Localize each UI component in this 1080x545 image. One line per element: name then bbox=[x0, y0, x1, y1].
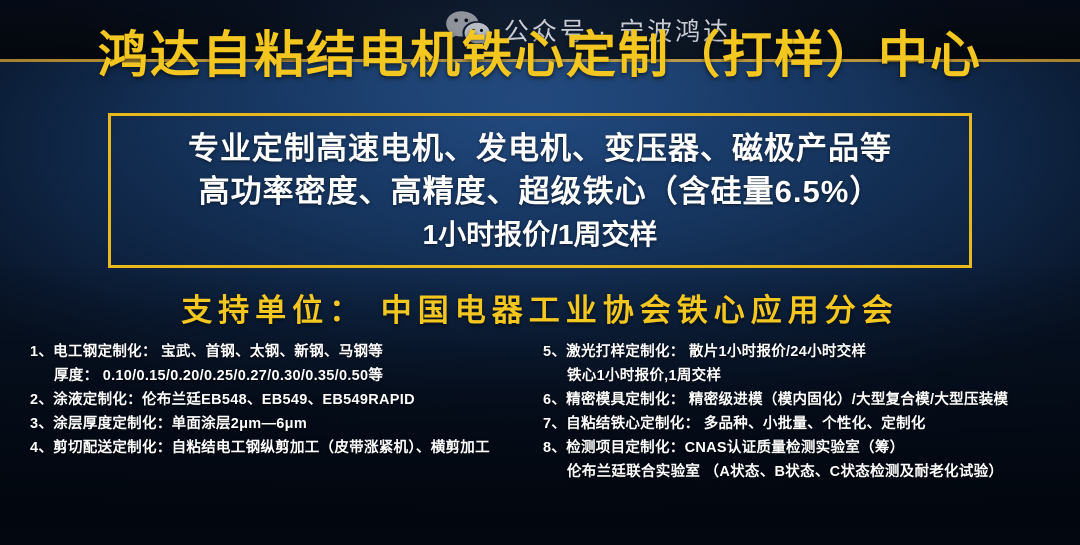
list-item: 6、精密模具定制化： 精密级进模（模内固化）/大型复合模/大型压装模 bbox=[543, 388, 1080, 412]
list-item-main: 8、检测项目定制化：CNAS认证质量检测实验室（筹） bbox=[543, 440, 904, 456]
highlight-line-2: 高功率密度、高精度、超级铁心（含硅量6.5%） bbox=[199, 170, 882, 213]
highlight-box: 专业定制高速电机、发电机、变压器、磁极产品等 高功率密度、高精度、超级铁心（含硅… bbox=[108, 113, 972, 268]
feature-lists: 1、电工钢定制化： 宝武、首钢、太钢、新钢、马钢等 厚度： 0.10/0.15/… bbox=[0, 340, 1080, 484]
list-item: 1、电工钢定制化： 宝武、首钢、太钢、新钢、马钢等 厚度： 0.10/0.15/… bbox=[30, 340, 535, 388]
list-item-continuation: 厚度： 0.10/0.15/0.20/0.25/0.27/0.30/0.35/0… bbox=[30, 364, 535, 388]
list-item: 4、剪切配送定制化：自粘结电工钢纵剪加工（皮带涨紧机）、横剪加工 bbox=[30, 436, 535, 460]
list-item-main: 6、精密模具定制化： 精密级进模（模内固化）/大型复合模/大型压装模 bbox=[543, 392, 1008, 408]
list-item-main: 4、剪切配送定制化：自粘结电工钢纵剪加工（皮带涨紧机）、横剪加工 bbox=[30, 440, 490, 456]
list-item: 2、涂液定制化：伦布兰廷EB548、EB549、EB549RAPID bbox=[30, 388, 535, 412]
list-item: 5、激光打样定制化： 散片1小时报价/24小时交样 铁心1小时报价,1周交样 bbox=[543, 340, 1080, 388]
list-item-main: 3、涂层厚度定制化：单面涂层2μm—6μm bbox=[30, 416, 307, 432]
list-item: 7、自粘结铁心定制化： 多品种、小批量、个性化、定制化 bbox=[543, 412, 1080, 436]
list-item-main: 1、电工钢定制化： 宝武、首钢、太钢、新钢、马钢等 bbox=[30, 344, 383, 360]
list-item-continuation: 铁心1小时报价,1周交样 bbox=[543, 364, 1080, 388]
list-item-main: 7、自粘结铁心定制化： 多品种、小批量、个性化、定制化 bbox=[543, 416, 926, 432]
highlight-line-1: 专业定制高速电机、发电机、变压器、磁极产品等 bbox=[188, 127, 892, 170]
highlight-line-3: 1小时报价/1周交样 bbox=[423, 213, 658, 256]
list-item: 3、涂层厚度定制化：单面涂层2μm—6μm bbox=[30, 412, 535, 436]
list-item: 8、检测项目定制化：CNAS认证质量检测实验室（筹） 伦布兰廷联合实验室 （A状… bbox=[543, 436, 1080, 484]
feature-column-right: 5、激光打样定制化： 散片1小时报价/24小时交样 铁心1小时报价,1周交样 6… bbox=[535, 340, 1080, 484]
list-item-main: 5、激光打样定制化： 散片1小时报价/24小时交样 bbox=[543, 344, 866, 360]
poster-title: 鸿达自粘结电机铁心定制（打样）中心 bbox=[0, 26, 1080, 84]
feature-column-left: 1、电工钢定制化： 宝武、首钢、太钢、新钢、马钢等 厚度： 0.10/0.15/… bbox=[0, 340, 535, 484]
support-unit-line: 支持单位： 中国电器工业协会铁心应用分会 bbox=[0, 285, 1080, 330]
poster-canvas: 鸿达自粘结电机铁心定制（打样）中心 专业定制高速电机、发电机、变压器、磁极产品等… bbox=[0, 0, 1080, 545]
list-item-continuation: 伦布兰廷联合实验室 （A状态、B状态、C状态检测及耐老化试验） bbox=[543, 460, 1080, 484]
list-item-main: 2、涂液定制化：伦布兰廷EB548、EB549、EB549RAPID bbox=[30, 392, 415, 408]
